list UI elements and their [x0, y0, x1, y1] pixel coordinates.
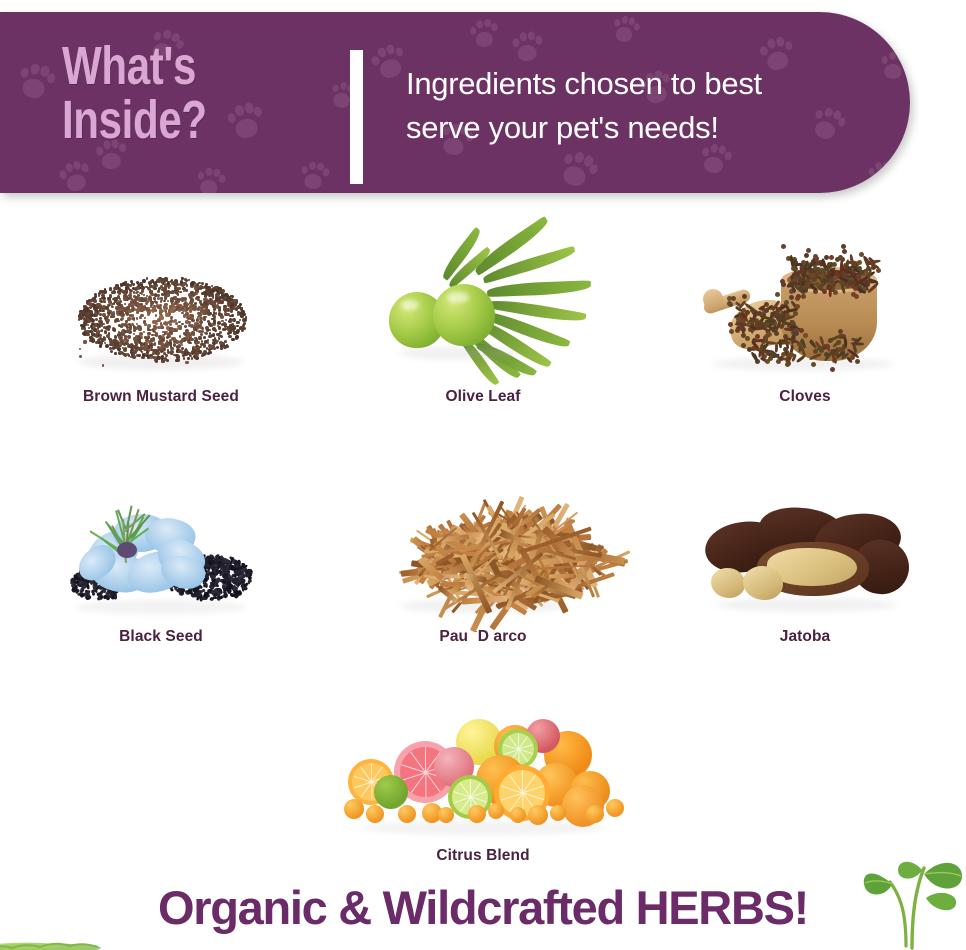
clove-head	[801, 294, 806, 299]
black-seed	[219, 561, 222, 566]
kumquat	[510, 807, 526, 823]
clove-head	[830, 367, 835, 372]
ingredient-label: Olive Leaf	[445, 388, 520, 406]
ingredient-card-brown-mustard-seed: Brown Mustard Seed	[0, 236, 322, 436]
clove-head	[729, 329, 734, 334]
black-seed	[228, 588, 232, 594]
clove-head	[857, 260, 862, 265]
nigella-flower-and-black-seeds	[69, 496, 254, 616]
jatoba-pods	[703, 496, 908, 616]
clove-head	[803, 333, 808, 338]
clove-head	[728, 322, 733, 327]
kumquat	[344, 799, 364, 819]
shadow	[362, 821, 604, 835]
clove-head	[775, 292, 780, 297]
clove-head	[813, 254, 818, 259]
ingredient-row: Citrus Blend	[0, 708, 966, 888]
pau-d-arco-image	[368, 476, 598, 616]
clove-head	[824, 255, 829, 260]
clove-head	[815, 282, 820, 287]
clove-head	[784, 300, 789, 305]
black-seed	[243, 583, 246, 587]
kumquat	[550, 805, 566, 821]
ingredient-label: Black Seed	[119, 628, 203, 646]
clove-head	[833, 275, 838, 280]
clove-head	[838, 255, 843, 260]
olive-fruit-and-leaves	[383, 246, 583, 376]
citrus-fruit-pile	[338, 713, 628, 833]
header-banner: What's Inside? Ingredients chosen to bes…	[0, 12, 910, 193]
clove-bud	[775, 343, 779, 352]
clove-head	[785, 362, 790, 367]
olive-leaf-shape	[487, 280, 591, 297]
kumquat	[398, 805, 416, 823]
citrus-blend-image	[333, 708, 633, 833]
jatoba-pulp-nugget	[711, 568, 745, 598]
clove-head	[859, 252, 864, 257]
clove-head	[747, 347, 752, 352]
clove-head	[766, 351, 771, 356]
black-seed	[218, 596, 223, 599]
clove-head	[789, 295, 794, 300]
ingredient-row: Black Seed Pau `D arco Jatoba	[0, 476, 966, 676]
ingredient-card-pau-d-arco: Pau `D arco	[322, 476, 644, 676]
clove-head	[746, 322, 751, 327]
clove-head	[806, 248, 811, 253]
header-subtitle: Ingredients chosen to best serve your pe…	[406, 62, 906, 150]
clove-head	[781, 244, 786, 249]
ingredient-label: Cloves	[779, 388, 830, 406]
clove-head	[799, 328, 804, 333]
ingredient-card-citrus-blend: Citrus Blend	[322, 708, 644, 888]
clove-head	[765, 359, 770, 364]
black-seed-image	[46, 476, 276, 616]
clove-head	[847, 280, 852, 285]
lime-whole	[374, 775, 408, 809]
highlight	[447, 292, 469, 303]
clove-head	[842, 249, 847, 254]
shadow	[75, 600, 247, 614]
ingredient-card-jatoba: Jatoba	[644, 476, 966, 676]
clove-head	[841, 244, 846, 249]
cloves-bowl-and-scoop	[703, 251, 908, 376]
ingredient-label: Pau `D arco	[439, 628, 526, 646]
shadow	[717, 598, 897, 612]
clove-head	[818, 346, 823, 351]
pau-darco-bark-pile	[383, 491, 583, 616]
ingredient-card-black-seed: Black Seed	[0, 476, 322, 676]
ingredient-label: Jatoba	[780, 628, 831, 646]
fruit-segment-line	[425, 772, 426, 797]
black-seed	[248, 581, 251, 585]
mustard-seed-pile	[61, 256, 261, 376]
clove-head	[804, 253, 809, 258]
cloves-image	[690, 236, 920, 376]
black-seed	[205, 583, 209, 589]
clove-head	[836, 340, 841, 345]
nigella-flower-center	[117, 542, 137, 558]
clove-head	[829, 255, 834, 260]
bark-strip	[401, 569, 419, 576]
ingredient-card-olive-leaf: Olive Leaf	[322, 236, 644, 436]
grass-icon	[0, 938, 106, 950]
clove-head	[775, 311, 780, 316]
kumquat	[366, 805, 384, 823]
infographic-page: What's Inside? Ingredients chosen to bes…	[0, 0, 966, 950]
ingredient-label: Brown Mustard Seed	[83, 388, 239, 406]
footer-title: Organic & Wildcrafted HERBS!	[158, 880, 808, 935]
fruit-segment-line	[425, 747, 426, 772]
wooden-scoop-knob	[703, 289, 723, 309]
clove-head	[793, 311, 798, 316]
clove-head	[791, 266, 796, 271]
clove-head	[830, 283, 835, 288]
clove-head	[876, 268, 881, 273]
fruit-segment-line	[371, 782, 372, 801]
footer: Organic & Wildcrafted HERBS!	[0, 876, 966, 950]
highlight	[401, 300, 419, 310]
sprout-leaves-icon	[862, 854, 966, 950]
clove-head	[783, 347, 788, 352]
page-title: What's Inside?	[62, 39, 207, 147]
olive-leaf-image	[368, 236, 598, 376]
kumquat	[586, 805, 604, 823]
clove-head	[794, 331, 799, 336]
clove-head	[736, 317, 741, 322]
clove-head	[850, 355, 855, 360]
kumquat	[438, 807, 454, 823]
kumquat	[488, 803, 504, 819]
ingredient-grid: Brown Mustard Seed Olive Leaf Cloves	[0, 236, 966, 888]
jatoba-image	[690, 476, 920, 616]
header-divider	[350, 50, 363, 184]
clove-head	[866, 266, 871, 271]
clove-head	[727, 301, 732, 306]
ingredient-card-cloves: Cloves	[644, 236, 966, 436]
brown-mustard-seed-image	[46, 236, 276, 376]
ingredient-label: Citrus Blend	[436, 847, 529, 865]
ingredient-row: Brown Mustard Seed Olive Leaf Cloves	[0, 236, 966, 436]
jatoba-pulp-nugget	[743, 566, 783, 600]
clove-head	[742, 294, 747, 299]
kumquat	[468, 805, 486, 823]
kumquat	[606, 799, 624, 817]
clove-head	[840, 347, 845, 352]
kumquat	[528, 805, 548, 825]
black-seed	[222, 583, 226, 587]
shadow	[399, 346, 519, 360]
